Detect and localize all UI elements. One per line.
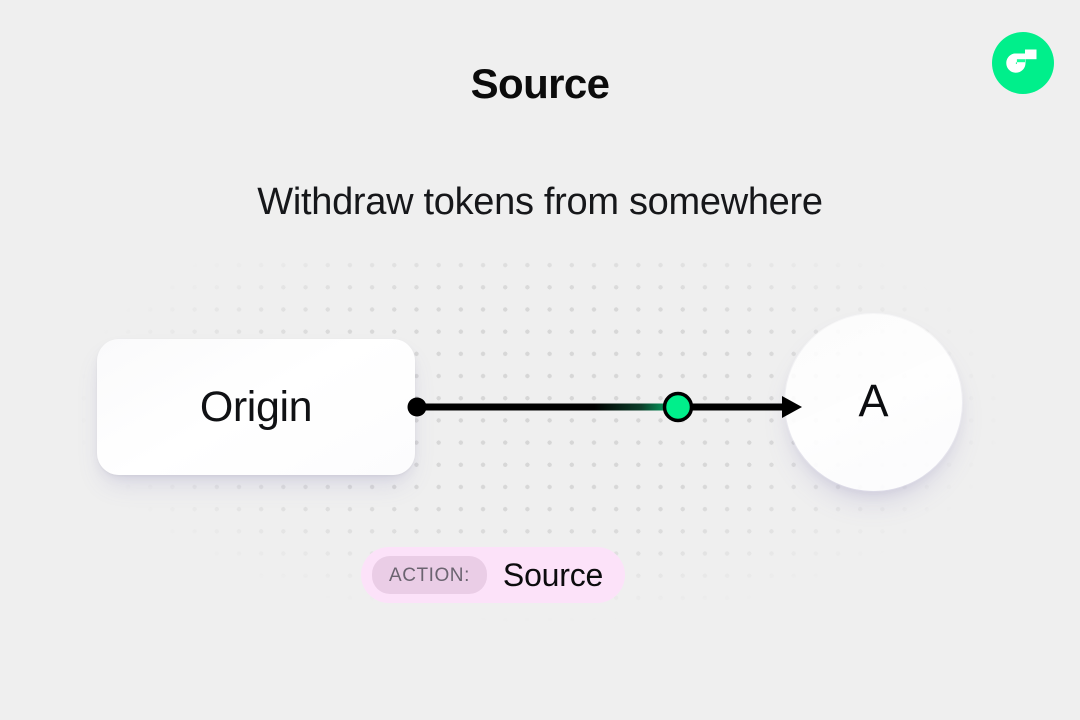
- action-badge[interactable]: ACTION: Source: [361, 547, 625, 603]
- edge-action-marker[interactable]: [665, 394, 692, 421]
- node-origin[interactable]: Origin: [97, 339, 415, 475]
- node-a-label: A: [858, 378, 888, 423]
- node-origin-label: Origin: [200, 386, 312, 429]
- node-a[interactable]: A: [785, 314, 962, 491]
- action-badge-key-label: ACTION:: [389, 566, 470, 585]
- action-badge-value: Source: [503, 559, 603, 591]
- page-title: Source: [0, 61, 1080, 107]
- page-subtitle: Withdraw tokens from somewhere: [0, 180, 1080, 226]
- diagram-canvas: Source Withdraw tokens from somewhere Or…: [0, 0, 1080, 720]
- action-badge-key: ACTION:: [372, 556, 487, 594]
